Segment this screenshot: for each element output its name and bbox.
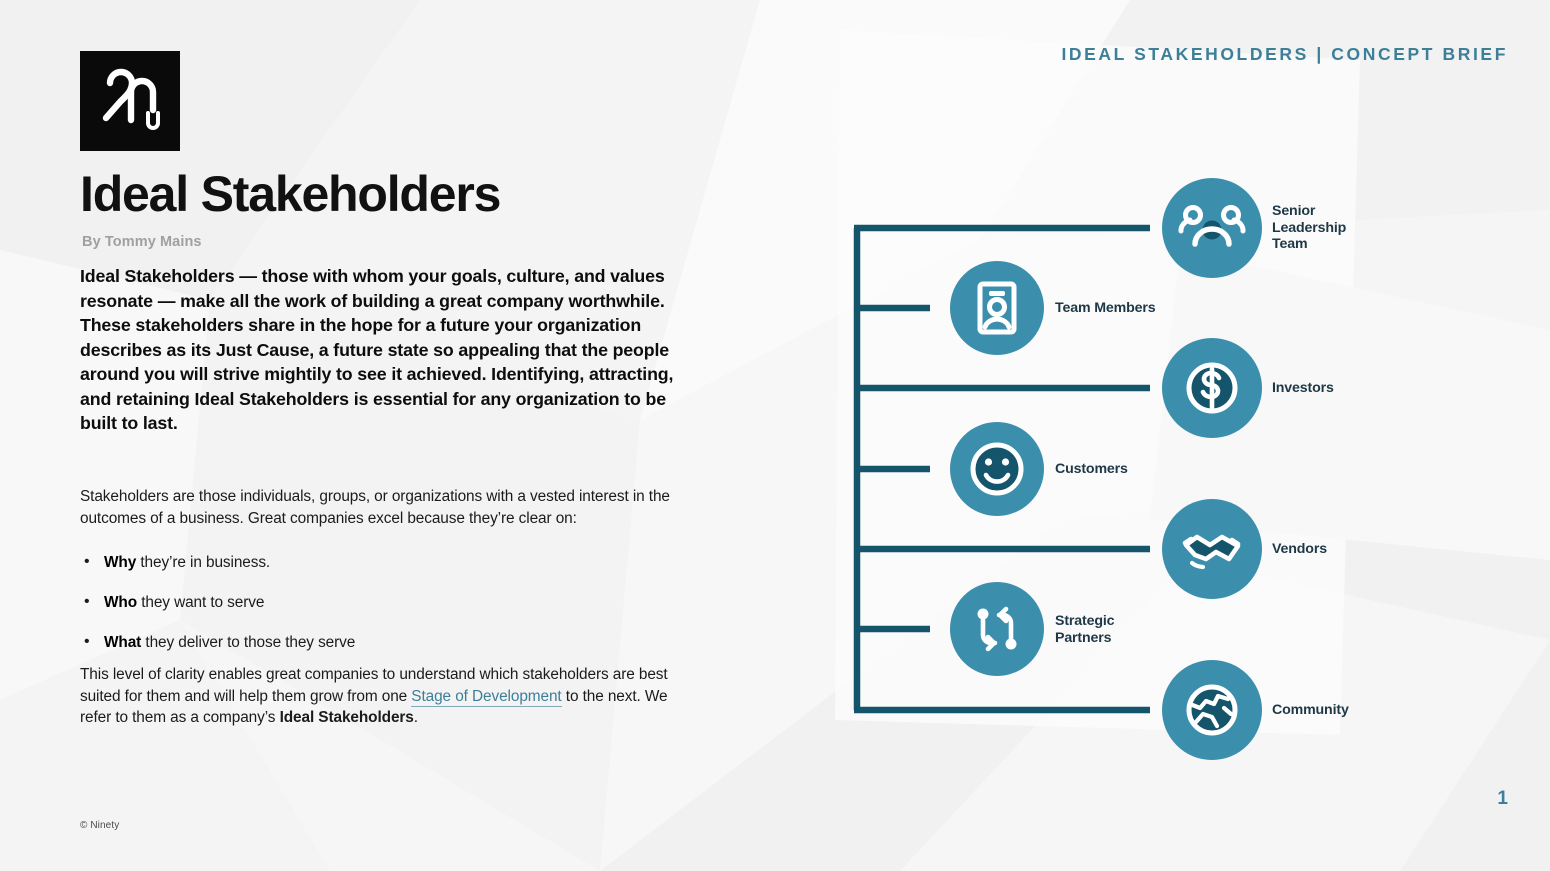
outro-text-3: .	[414, 709, 418, 726]
bullet-lead: Why	[104, 554, 136, 571]
outro-bold-term: Ideal Stakeholders	[280, 709, 414, 726]
ninety-logo[interactable]	[80, 51, 180, 151]
intro-paragraph: Stakeholders are those individuals, grou…	[80, 486, 680, 529]
bullet-rest: they deliver to those they serve	[141, 634, 355, 651]
node-label-vendors: Vendors	[1272, 541, 1327, 558]
node-label-investors: Investors	[1272, 380, 1334, 397]
node-label-senior-leadership-team: Senior Leadership Team	[1272, 203, 1346, 253]
list-item: Who they want to serve	[80, 592, 680, 613]
node-circle-team-members	[950, 261, 1044, 355]
bullet-lead: What	[104, 634, 141, 651]
globe-icon	[1189, 687, 1235, 733]
list-item: Why they’re in business.	[80, 552, 680, 573]
brief-page: IDEAL STAKEHOLDERS | CONCEPT BRIEF Ideal…	[0, 0, 1550, 871]
node-circle-strategic-partners	[950, 582, 1044, 676]
bullet-rest: they’re in business.	[136, 554, 270, 571]
smiley-face-icon	[973, 445, 1021, 493]
lede-paragraph: Ideal Stakeholders — those with whom you…	[80, 264, 680, 436]
copyright-notice: © Ninety	[80, 820, 119, 831]
stage-of-development-link[interactable]: Stage of Development	[411, 688, 561, 707]
node-label-community: Community	[1272, 702, 1349, 719]
node-label-team-members: Team Members	[1055, 300, 1155, 317]
outro-paragraph: This level of clarity enables great comp…	[80, 664, 680, 729]
page-title: Ideal Stakeholders	[80, 168, 500, 221]
clarity-bullet-list: Why they’re in business. Who they want t…	[80, 552, 680, 672]
list-item: What they deliver to those they serve	[80, 632, 680, 653]
byline: By Tommy Mains	[82, 234, 202, 250]
ideal-stakeholders-diagram: Senior Leadership Team Team Members Inve…	[820, 0, 1550, 871]
node-label-customers: Customers	[1055, 461, 1128, 478]
bullet-rest: they want to serve	[137, 594, 264, 611]
dollar-coin-icon	[1189, 365, 1235, 411]
node-label-strategic-partners: Strategic Partners	[1055, 613, 1114, 646]
bullet-lead: Who	[104, 594, 137, 611]
